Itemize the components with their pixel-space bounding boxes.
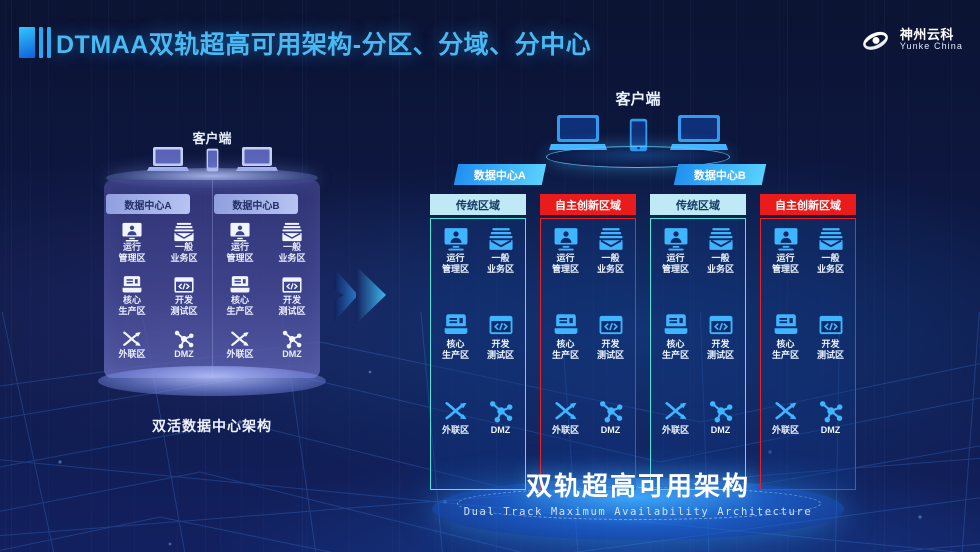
zone-label: 运行 管理区 <box>552 253 579 274</box>
zone-cell: 开发 测试区 <box>266 275 318 328</box>
molecule-icon <box>487 399 515 423</box>
zone-cell: 运行 管理区 <box>653 227 698 313</box>
zone-cell: 核心 生产区 <box>214 275 266 328</box>
molecule-icon <box>817 399 845 423</box>
inbox-stack-icon <box>281 222 303 242</box>
page-title: DTMAA双轨超高可用架构-分区、分域、分中心 <box>56 25 591 61</box>
zone-label: 开发 测试区 <box>597 339 624 360</box>
dc-a-traditional-zone: 传统区域 运行 管理区 一般 业务区 核心 生产区 <box>430 194 526 492</box>
zone-label: DMZ <box>821 425 841 436</box>
zone-cell: 运行 管理区 <box>543 227 588 313</box>
code-window-icon <box>597 313 625 337</box>
left-dc-tag-a: 数据中心A <box>106 194 190 214</box>
zone-label: 外联区 <box>552 425 579 436</box>
zone-label: 核心 生产区 <box>552 339 579 360</box>
zone-cell: 运行 管理区 <box>106 222 158 275</box>
left-dc-tag-b: 数据中心B <box>214 194 298 214</box>
double-chevron-right-icon <box>328 256 408 334</box>
database-core-icon <box>662 313 690 337</box>
zone-label: 运行 管理区 <box>772 253 799 274</box>
inbox-stack-icon <box>173 222 195 242</box>
zone-group-header: 传统区域 <box>650 194 746 215</box>
zone-group-frame: 运行 管理区 一般 业务区 核心 生产区 开发 测试区 <box>430 218 526 490</box>
zone-label: 运行 管理区 <box>226 242 253 263</box>
zone-label: 外联区 <box>226 349 253 360</box>
zone-cell: 开发 测试区 <box>588 313 633 399</box>
zone-cell: 核心 生产区 <box>763 313 808 399</box>
brand-name-en: Yunke China <box>900 42 963 51</box>
zone-cell: 运行 管理区 <box>763 227 808 313</box>
zone-label: 开发 测试区 <box>278 295 305 316</box>
crossing-arrows-icon <box>229 329 251 349</box>
zone-cell: 核心 生产区 <box>106 275 158 328</box>
code-window-icon <box>817 313 845 337</box>
zone-cell: 外联区 <box>106 329 158 382</box>
zone-label: 开发 测试区 <box>707 339 734 360</box>
slide-canvas: DTMAA双轨超高可用架构-分区、分域、分中心 神州云科 Yunke China… <box>0 0 980 552</box>
zone-label: 外联区 <box>662 425 689 436</box>
zone-label: 一般 业务区 <box>170 242 197 263</box>
zone-label: 运行 管理区 <box>118 242 145 263</box>
left-center-divider <box>212 180 213 378</box>
brand-name-cn: 神州云科 <box>900 28 963 42</box>
database-core-icon <box>121 275 143 295</box>
zone-cell: 运行 管理区 <box>214 222 266 275</box>
zone-cell: 开发 测试区 <box>808 313 853 399</box>
zone-label: 核心 生产区 <box>442 339 469 360</box>
zone-cell: DMZ <box>158 329 210 382</box>
zone-label: 核心 生产区 <box>226 295 253 316</box>
caption-en: Dual Track Maximum Availability Architec… <box>388 506 888 518</box>
zone-label: 一般 业务区 <box>597 253 624 274</box>
zone-cell: 一般 业务区 <box>698 227 743 313</box>
zone-cell: 开发 测试区 <box>158 275 210 328</box>
dc-b-innovation-zone: 自主创新区域 运行 管理区 一般 业务区 核心 生产区 <box>760 194 856 492</box>
right-client-label: 客户端 <box>508 88 768 109</box>
inbox-stack-icon <box>597 227 625 251</box>
zone-cell: 开发 测试区 <box>478 313 523 399</box>
crossing-arrows-icon <box>442 399 470 423</box>
brand-logo: 神州云科 Yunke China <box>859 26 963 54</box>
dc-b-traditional-zone: 传统区域 运行 管理区 一般 业务区 核心 生产区 <box>650 194 746 492</box>
monitor-user-icon <box>552 227 580 251</box>
zone-group-frame: 运行 管理区 一般 业务区 核心 生产区 开发 测试区 <box>540 218 636 490</box>
transition-arrow <box>328 256 408 334</box>
left-diagram-caption: 双活数据中心架构 <box>92 416 332 436</box>
zone-label: 外联区 <box>442 425 469 436</box>
right-dc-tag-a: 数据中心A <box>454 164 546 185</box>
zone-label: 一般 业务区 <box>707 253 734 274</box>
zone-label: 一般 业务区 <box>817 253 844 274</box>
zone-cell: 外联区 <box>214 329 266 382</box>
zone-cell: 一般 业务区 <box>478 227 523 313</box>
swoosh-icon <box>859 26 893 54</box>
code-window-icon <box>281 275 303 295</box>
zone-cell: 一般 业务区 <box>158 222 210 275</box>
monitor-user-icon <box>442 227 470 251</box>
zone-label: 核心 生产区 <box>772 339 799 360</box>
zone-group-header: 自主创新区域 <box>540 194 636 215</box>
crossing-arrows-icon <box>552 399 580 423</box>
zone-group-header: 传统区域 <box>430 194 526 215</box>
monitor-user-icon <box>229 222 251 242</box>
zone-label: DMZ <box>282 349 302 360</box>
zone-label: DMZ <box>601 425 621 436</box>
zone-cell: 核心 生产区 <box>433 313 478 399</box>
dtmaa-architecture-diagram: 客户端 数据中心A <box>388 88 888 528</box>
caption-cn: 双轨超高可用架构 <box>388 466 888 503</box>
zone-label: 外联区 <box>772 425 799 436</box>
zone-cell: 核心 生产区 <box>653 313 698 399</box>
slide-header: DTMAA双轨超高可用架构-分区、分域、分中心 神州云科 Yunke China <box>0 0 980 82</box>
zone-cell: 运行 管理区 <box>433 227 478 313</box>
monitor-user-icon <box>121 222 143 242</box>
zone-label: 开发 测试区 <box>487 339 514 360</box>
inbox-stack-icon <box>817 227 845 251</box>
molecule-icon <box>281 329 303 349</box>
inbox-stack-icon <box>707 227 735 251</box>
database-core-icon <box>229 275 251 295</box>
zone-label: 一般 业务区 <box>278 242 305 263</box>
crossing-arrows-icon <box>121 329 143 349</box>
code-window-icon <box>173 275 195 295</box>
inbox-stack-icon <box>487 227 515 251</box>
zone-cell: DMZ <box>266 329 318 382</box>
zone-label: 核心 生产区 <box>662 339 689 360</box>
monitor-user-icon <box>662 227 690 251</box>
zone-label: 开发 测试区 <box>817 339 844 360</box>
database-core-icon <box>552 313 580 337</box>
code-window-icon <box>707 313 735 337</box>
zone-label: 开发 测试区 <box>170 295 197 316</box>
left-client-label: 客户端 <box>92 128 332 147</box>
left-dc-b-zones: 运行 管理区 一般 业务区 核心 生产区 开发 测试区 外联区 DMZ <box>214 222 318 382</box>
header-bars-icon <box>19 27 51 58</box>
code-window-icon <box>487 313 515 337</box>
right-diagram-caption: 双轨超高可用架构 Dual Track Maximum Availability… <box>388 466 888 518</box>
left-dc-a-zones: 运行 管理区 一般 业务区 核心 生产区 开发 测试区 外联区 DMZ <box>106 222 210 382</box>
database-core-icon <box>442 313 470 337</box>
molecule-icon <box>707 399 735 423</box>
zone-group-frame: 运行 管理区 一般 业务区 核心 生产区 开发 测试区 <box>760 218 856 490</box>
zone-cell: 一般 业务区 <box>588 227 633 313</box>
molecule-icon <box>173 329 195 349</box>
database-core-icon <box>772 313 800 337</box>
zone-group-frame: 运行 管理区 一般 业务区 核心 生产区 开发 测试区 <box>650 218 746 490</box>
zone-label: DMZ <box>174 349 194 360</box>
zone-label: 运行 管理区 <box>662 253 689 274</box>
zone-cell: 一般 业务区 <box>808 227 853 313</box>
zone-label: DMZ <box>491 425 511 436</box>
molecule-icon <box>597 399 625 423</box>
right-dc-tag-b: 数据中心B <box>674 164 766 185</box>
dc-a-innovation-zone: 自主创新区域 运行 管理区 一般 业务区 核心 生产区 <box>540 194 636 492</box>
zone-cell: 核心 生产区 <box>543 313 588 399</box>
zone-label: 外联区 <box>118 349 145 360</box>
legacy-architecture-diagram: 客户端 数据中心A 数据中心B <box>92 128 332 448</box>
zone-cell: 一般 业务区 <box>266 222 318 275</box>
monitor-user-icon <box>772 227 800 251</box>
zone-label: 核心 生产区 <box>118 295 145 316</box>
zone-label: 运行 管理区 <box>442 253 469 274</box>
crossing-arrows-icon <box>772 399 800 423</box>
zone-cell: 开发 测试区 <box>698 313 743 399</box>
crossing-arrows-icon <box>662 399 690 423</box>
zone-group-header: 自主创新区域 <box>760 194 856 215</box>
zone-label: DMZ <box>711 425 731 436</box>
zone-label: 一般 业务区 <box>487 253 514 274</box>
